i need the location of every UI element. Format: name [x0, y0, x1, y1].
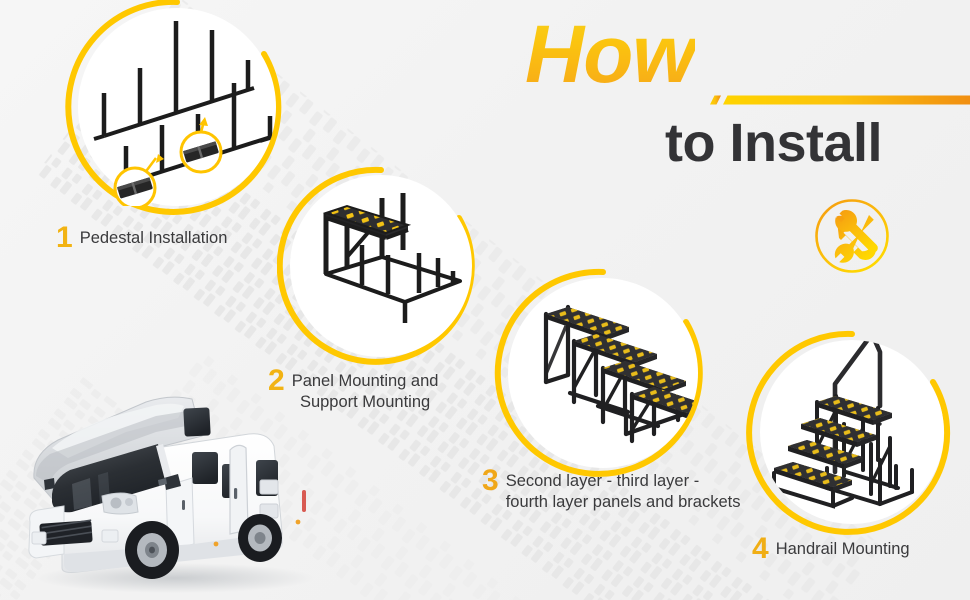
step-1-caption: 1 Pedestal Installation: [56, 224, 227, 253]
title-underline-svg: [710, 94, 970, 106]
frame-with-top-panel-illustration: [290, 175, 472, 357]
step-3-number: 3: [482, 467, 499, 496]
step-3-caption: 3 Second layer - third layer - fourth la…: [482, 467, 741, 513]
tools-wrench-screwdriver-icon: [812, 196, 892, 276]
step-4-label: Handrail Mounting: [776, 535, 910, 560]
four-step-stair-illustration: [508, 278, 698, 468]
title-how: How: [525, 14, 695, 96]
title-block: How to Install: [515, 14, 965, 184]
step-3-illustration: [508, 278, 698, 468]
title-underline-bar: [710, 93, 970, 105]
rv-motorhome-photo: [6, 372, 336, 600]
title-to-install: to Install: [665, 116, 882, 170]
step-1-illustration: [78, 8, 276, 206]
step-4-caption: 4 Handrail Mounting: [752, 535, 910, 564]
step-2-illustration: [290, 175, 472, 357]
tools-badge-svg: [812, 196, 892, 276]
joint-detail-callout-right: [181, 117, 221, 172]
rv-illustration-svg: [6, 372, 336, 600]
stair-with-handrail-illustration: [760, 340, 944, 524]
step-1-label: Pedestal Installation: [80, 224, 228, 249]
step-3-label: Second layer - third layer - fourth laye…: [506, 467, 741, 513]
pedestal-frame-illustration: [78, 8, 276, 206]
step-1-number: 1: [56, 224, 73, 253]
how-to-install-poster: How to Install: [0, 0, 970, 600]
step-4-number: 4: [752, 535, 769, 564]
step-4-illustration: [760, 340, 944, 524]
joint-detail-callout-left: [115, 154, 164, 206]
